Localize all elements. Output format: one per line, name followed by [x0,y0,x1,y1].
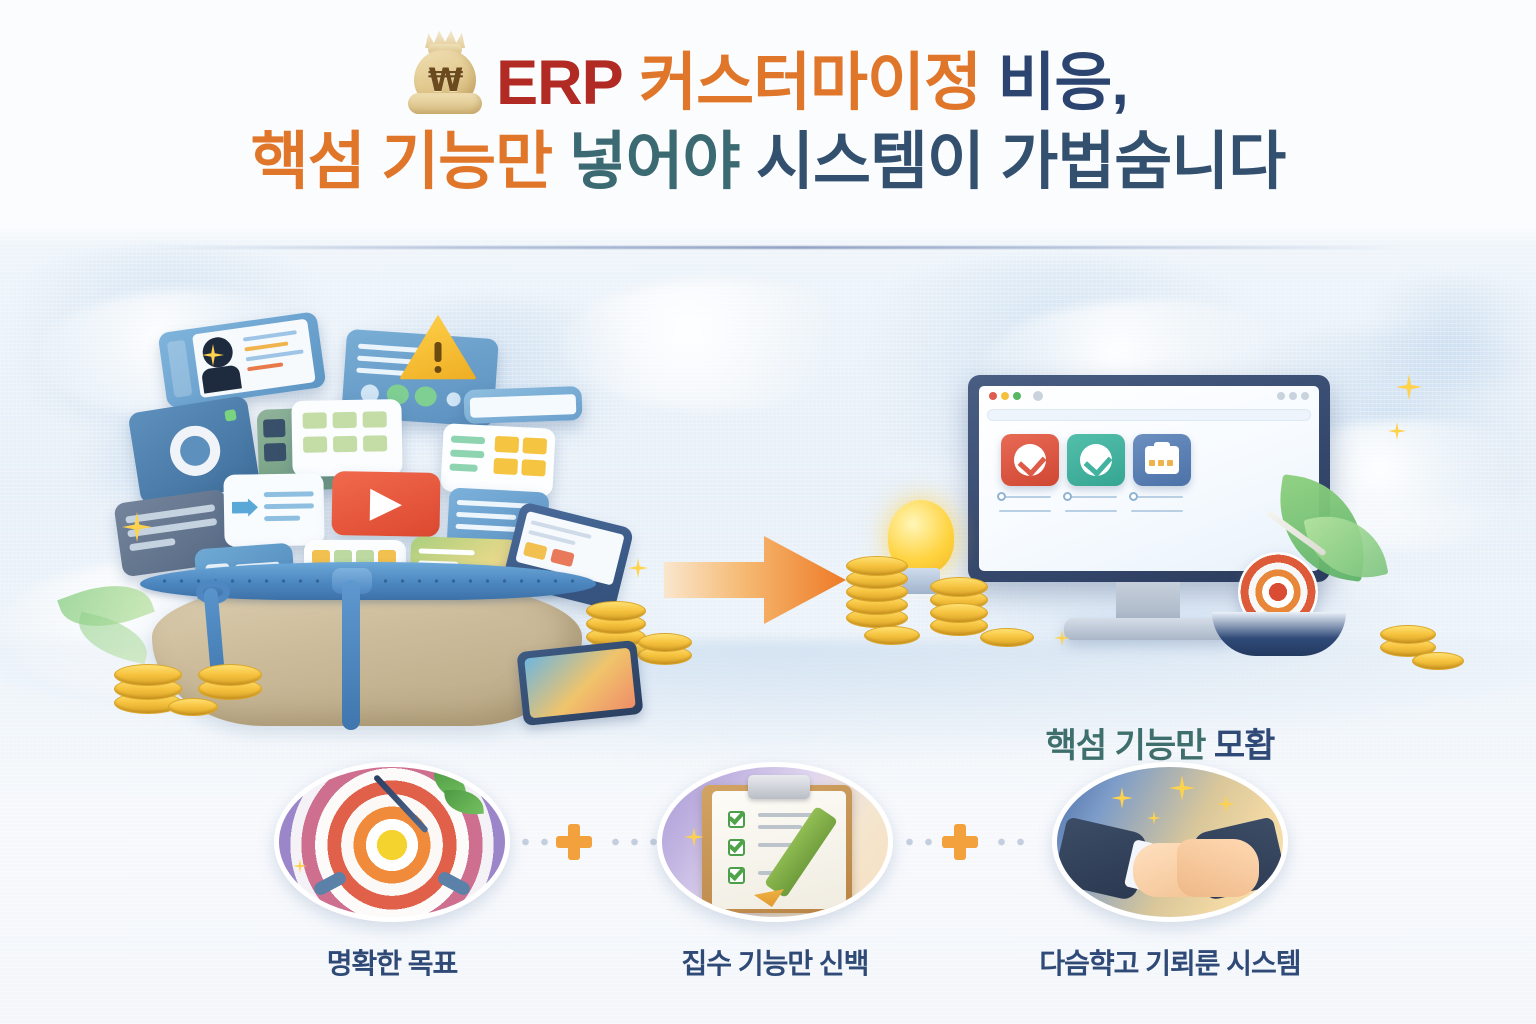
check-tile-teal[interactable] [1067,434,1125,486]
benefit-caption-goal: 명확한 목표 [262,942,522,982]
window-menu-dot-3 [1301,392,1309,400]
benefit-item-goal[interactable]: 명확한 목표 [262,762,522,982]
title-line-2: 핵섬 기능만 넣어야 시스템이 가법숨니다 [0,130,1536,196]
window-menu-dot-1 [1277,392,1285,400]
mid-caption: 핵섬 기능만 모홥 [900,718,1420,767]
benefits-row: 명확한 목표 집수 기능만 신백 [0,762,1536,1002]
check-circle-icon [1014,444,1046,476]
target-arrow-icon [274,762,510,922]
window-dot-red [989,392,997,400]
app-card-pile [92,300,692,600]
window-menu-dot-2 [1289,392,1297,400]
title-word-custom: 커스터마이정 [639,48,981,118]
card-user-profile [157,311,326,409]
clean-system-monitor-illustration [840,330,1460,720]
check-circle-icon [1080,444,1112,476]
benefit-item-features[interactable]: 집수 기능만 신백 [645,762,905,982]
card-forward-list [223,473,324,547]
tablet-device [516,640,643,726]
card-video-play [331,471,440,537]
warning-triangle-icon [399,312,477,382]
slider-knob-2[interactable] [1063,492,1072,501]
sparkle-icon-5 [1388,422,1406,440]
slider-track-5[interactable] [1065,510,1117,512]
title-word-cost: 비응, [997,48,1127,118]
card-yellow-tiles [440,423,555,497]
briefcase-tile[interactable] [1133,434,1191,486]
window-dot-green [1013,392,1021,400]
handshake-icon [1052,762,1288,922]
window-dot-grey [1033,391,1043,401]
overflowing-money-bag-illustration [92,300,692,720]
monitor-screen [979,386,1319,571]
title-word-include: 넣어야 [569,127,740,197]
clipboard-check-icon [657,762,893,922]
benefit-caption-features: 집수 기능만 신백 [645,942,905,982]
slider-knob-3[interactable] [1129,492,1138,501]
infographic-canvas: ₩ ERP 커스터마이정 비응, 핵섬 기능만 넣어야 시스템이 가법숨니다 [0,0,1536,1024]
address-bar[interactable] [987,409,1311,421]
title-word-erp: ERP [496,48,623,118]
slider-track-4[interactable] [999,510,1051,512]
slider-track-3[interactable] [1131,496,1183,498]
monitor-stand [1064,618,1232,640]
dots-connector-1 [516,838,554,846]
card-banner [463,386,582,424]
header-divider [150,246,1400,249]
card-grid-tiles [291,399,402,477]
page-title: ₩ ERP 커스터마이정 비응, 핵섬 기능만 넣어야 시스템이 가법숨니다 [0,30,1536,195]
plus-sign-1 [556,824,592,860]
window-titlebar [979,386,1319,406]
slider-knob-1[interactable] [997,492,1006,501]
title-word-core: 핵섬 기능만 [251,127,552,197]
check-tile-red[interactable] [1001,434,1059,486]
slider-track-1[interactable] [999,496,1051,498]
mid-caption-part1: 핵섬 기능만 [1046,727,1206,765]
window-dot-yellow [1001,392,1009,400]
benefit-item-trust[interactable]: 다슴햑고 기뢰룬 시스템 [1020,762,1320,982]
plus-sign-2 [942,824,978,860]
money-bag-icon: ₩ [408,30,482,116]
sparkle-icon-4 [1396,374,1422,400]
slider-track-6[interactable] [1131,510,1183,512]
money-bag-tie-center [342,580,360,730]
benefit-caption-trust: 다슴햑고 기뢰룬 시스템 [1020,942,1320,982]
mid-caption-part2: 모홥 [1214,727,1275,765]
monitor-neck [1116,582,1180,622]
slider-track-2[interactable] [1065,496,1117,498]
title-line-1: ₩ ERP 커스터마이정 비응, [0,30,1536,117]
dots-connector-3 [900,838,938,846]
title-word-system: 시스템이 가법숨니다 [756,127,1285,197]
transition-arrow [660,520,860,640]
monitor [968,375,1330,582]
